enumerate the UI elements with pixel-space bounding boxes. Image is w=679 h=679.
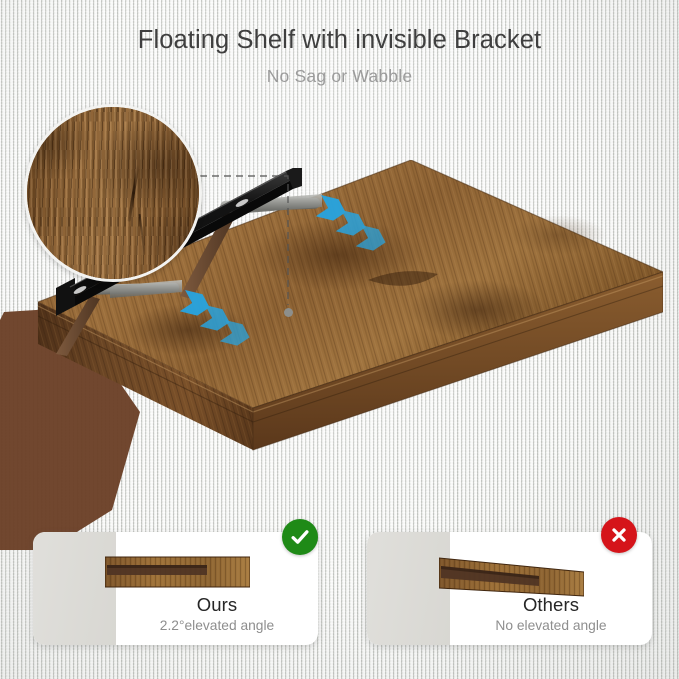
card-label-others: Others <box>450 594 652 616</box>
status-badge-cross <box>601 517 637 553</box>
card-wall-panel-others <box>367 532 450 645</box>
page-title: Floating Shelf with invisible Bracket <box>0 26 679 55</box>
comparison-section: Ours 2.2°elevated angle <box>0 526 679 656</box>
page-subtitle: No Sag or Wabble <box>0 66 679 87</box>
comparison-card-ours: Ours 2.2°elevated angle <box>33 532 318 645</box>
close-icon <box>609 525 629 545</box>
card-wall-panel-ours <box>33 532 116 645</box>
card-shelf-illustration-ours <box>105 556 250 595</box>
callout-anchor-dot <box>284 308 293 317</box>
card-sublabel-others: No elevated angle <box>450 618 652 633</box>
product-image-canvas: Floating Shelf with invisible Bracket No… <box>0 0 679 679</box>
closeup-wood-texture <box>27 107 199 279</box>
status-badge-check <box>282 519 318 555</box>
wood-grain-closeup <box>24 104 202 282</box>
card-sublabel-ours: 2.2°elevated angle <box>116 618 318 633</box>
header-block: Floating Shelf with invisible Bracket No… <box>0 26 679 87</box>
card-label-ours: Ours <box>116 594 318 616</box>
check-icon <box>289 526 311 548</box>
